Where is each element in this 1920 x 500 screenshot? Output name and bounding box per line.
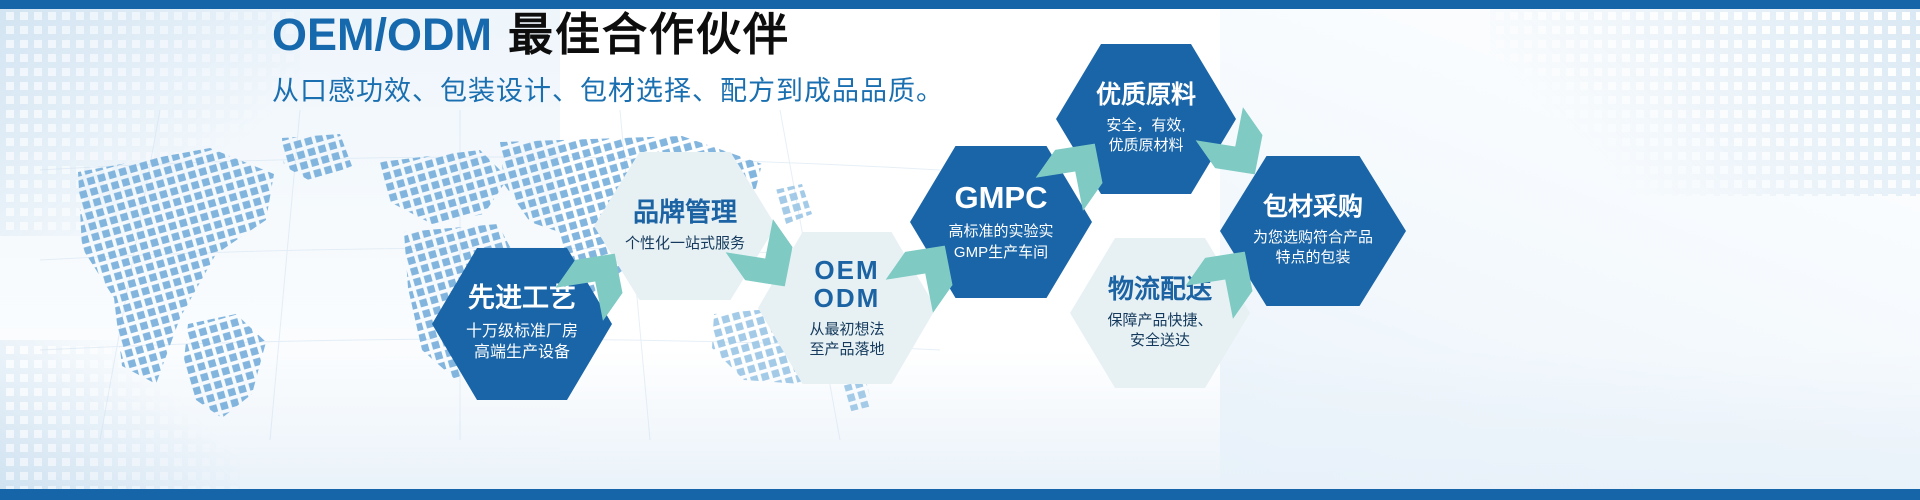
step-sub-line-1: 保障产品快捷、 bbox=[1107, 311, 1212, 331]
step-sub-line-2: 高端生产设备 bbox=[466, 342, 578, 364]
page-title: OEM/ODM最佳合作伙伴 bbox=[272, 8, 944, 61]
step-title: GMPC bbox=[955, 181, 1048, 215]
step-title-line-1: OEM bbox=[814, 256, 881, 285]
step-title: 先进工艺 bbox=[468, 284, 576, 314]
step-title: 包材采购 bbox=[1263, 194, 1363, 222]
step-title-line-2: ODM bbox=[814, 284, 881, 313]
step-sub-line-1: 高标准的实验实 bbox=[948, 222, 1053, 242]
oem-odm-banner: OEM/ODM最佳合作伙伴 从口感功效、包装设计、包材选择、配方到成品品质。 先… bbox=[0, 0, 1920, 500]
step-sub-line-1: 个性化一站式服务 bbox=[625, 234, 745, 254]
bottom-rule bbox=[0, 489, 1920, 500]
headline-block: OEM/ODM最佳合作伙伴 从口感功效、包装设计、包材选择、配方到成品品质。 bbox=[272, 8, 944, 108]
step-sub-line-2: 安全送达 bbox=[1107, 331, 1212, 351]
step-sub-line-2: 至产品落地 bbox=[809, 340, 884, 360]
step-sub-line-1: 为您选购符合产品 bbox=[1253, 228, 1373, 248]
step-title: 品牌管理 bbox=[633, 198, 737, 227]
title-chinese: 最佳合作伙伴 bbox=[508, 9, 790, 60]
step-sub-line-2: GMP生产车间 bbox=[948, 243, 1053, 263]
page-subtitle: 从口感功效、包装设计、包材选择、配方到成品品质。 bbox=[272, 69, 944, 108]
step-sub-line-1: 安全，有效, bbox=[1106, 116, 1185, 136]
step-sub-line-2: 特点的包装 bbox=[1253, 248, 1373, 268]
step-sub-line-1: 十万级标准厂房 bbox=[466, 321, 578, 343]
step-sub-line-2: 优质原材料 bbox=[1106, 136, 1185, 156]
top-rule bbox=[0, 0, 1920, 9]
title-english: OEM/ODM bbox=[272, 9, 492, 60]
step-title: 优质原料 bbox=[1096, 82, 1196, 110]
step-sub-line-1: 从最初想法 bbox=[809, 320, 884, 340]
